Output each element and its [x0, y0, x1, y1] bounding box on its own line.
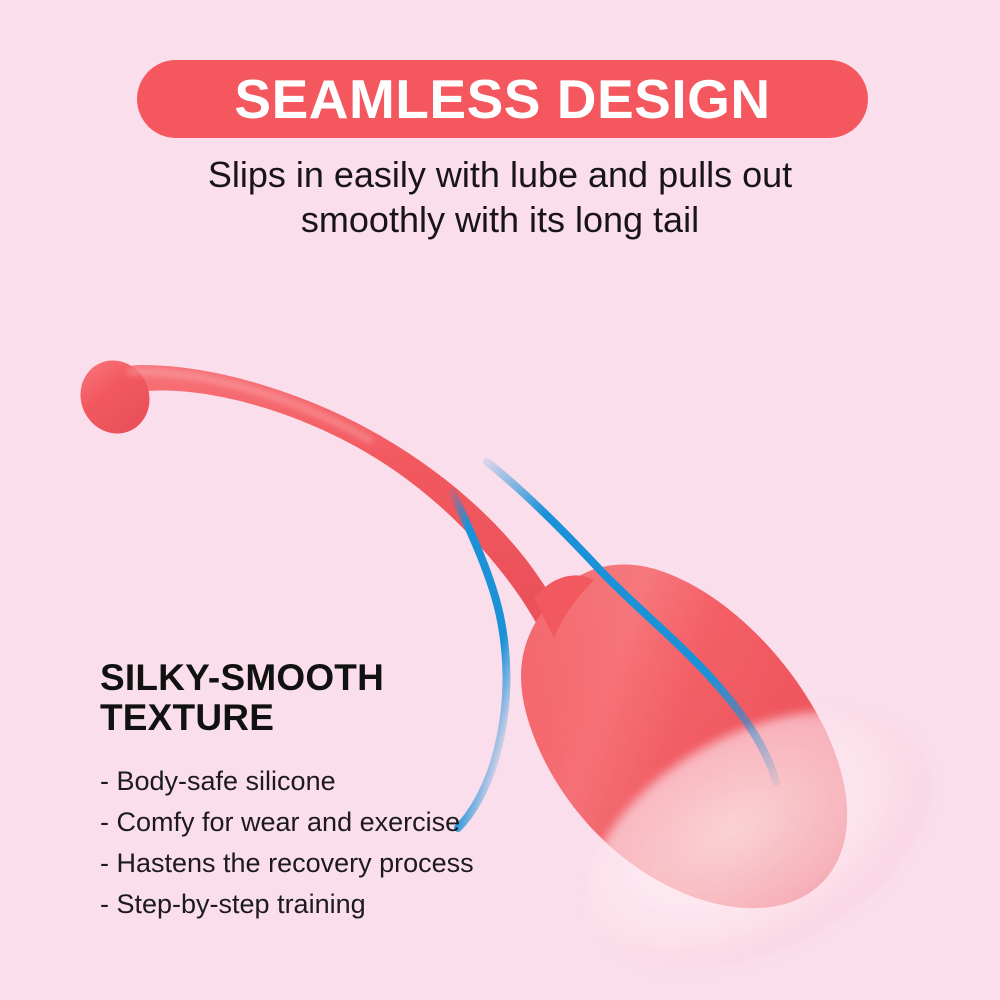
soft-shadow-ellipse: [546, 658, 974, 1000]
feature-bullet: - Body-safe silicone: [100, 761, 570, 802]
subtitle-line-1: Slips in easily with lube and pulls out: [120, 152, 880, 197]
feature-bullet-list: - Body-safe silicone - Comfy for wear an…: [100, 761, 570, 925]
retrieval-tail: [69, 349, 566, 640]
feature-heading-line-2: TEXTURE: [100, 698, 570, 738]
feature-heading-line-1: SILKY-SMOOTH: [100, 658, 570, 698]
feature-heading: SILKY-SMOOTH TEXTURE: [100, 658, 570, 738]
title-banner: SEAMLESS DESIGN: [137, 60, 868, 138]
feature-bullet: - Hastens the recovery process: [100, 843, 570, 884]
subtitle: Slips in easily with lube and pulls out …: [120, 152, 880, 242]
feature-bullet: - Step-by-step training: [100, 884, 570, 925]
tail-tip-bulb: [69, 349, 161, 444]
feature-bullet: - Comfy for wear and exercise: [100, 802, 570, 843]
subtitle-line-2: smoothly with its long tail: [120, 197, 880, 242]
feature-block: SILKY-SMOOTH TEXTURE - Body-safe silicon…: [100, 658, 570, 925]
banner-title-text: SEAMLESS DESIGN: [234, 72, 770, 127]
product-infographic: SEAMLESS DESIGN Slips in easily with lub…: [0, 0, 1000, 1000]
